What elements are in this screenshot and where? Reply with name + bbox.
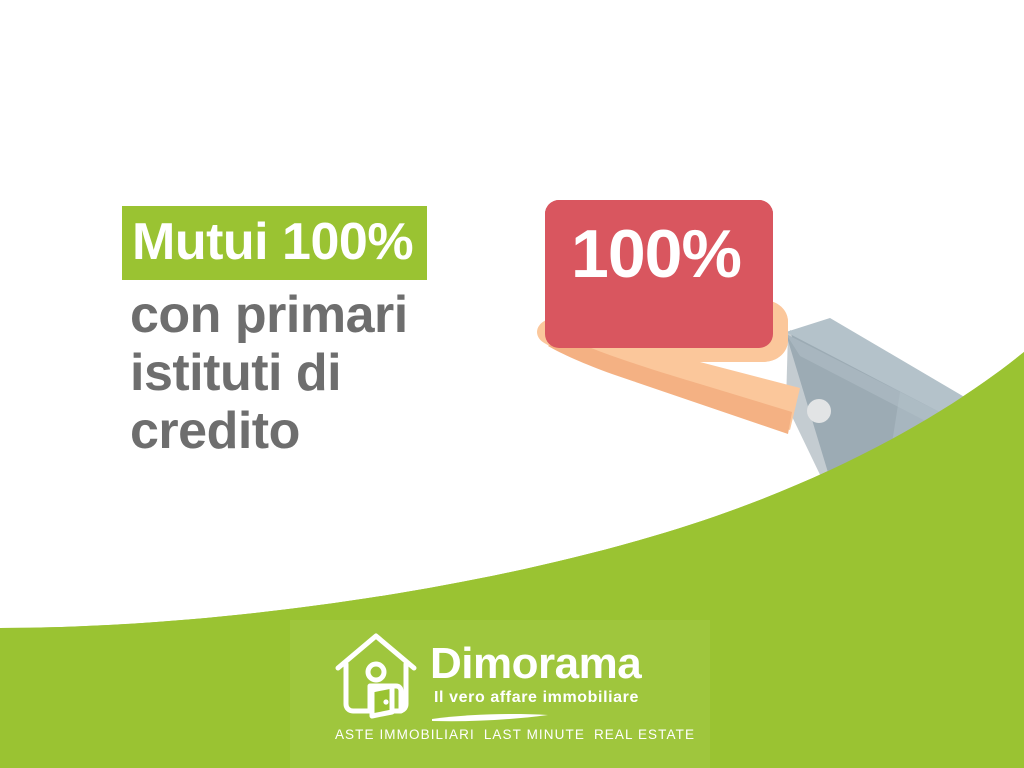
logo-footnote-part-1: ASTE IMMOBILIARI xyxy=(335,727,475,742)
headline-highlight: Mutui 100% xyxy=(122,206,427,280)
headline-line-3: credito xyxy=(122,402,552,460)
headline-block: Mutui 100% con primari istituti di credi… xyxy=(122,206,552,460)
headline-line-2: istituti di xyxy=(122,344,552,402)
logo-wordmark: Dimorama xyxy=(430,642,641,686)
logo-footnote: ASTE IMMOBILIARILAST MINUTEREAL ESTATE xyxy=(330,728,700,742)
percent-card: 100% xyxy=(545,200,773,348)
brand-logo: Dimorama Il vero affare immobiliare ASTE… xyxy=(330,624,700,744)
house-outline-icon xyxy=(330,628,422,720)
headline-line-1: con primari xyxy=(122,286,552,344)
sleeve-button-icon xyxy=(807,399,831,423)
logo-footnote-part-2: LAST MINUTE xyxy=(484,727,585,742)
percent-card-label: 100% xyxy=(571,220,741,288)
logo-footnote-part-3: REAL ESTATE xyxy=(594,727,695,742)
swash-divider-icon xyxy=(430,712,550,724)
logo-tagline: Il vero affare immobiliare xyxy=(434,690,639,706)
promo-banner: Mutui 100% con primari istituti di credi… xyxy=(0,0,1024,768)
headline-body: con primari istituti di credito xyxy=(122,286,552,460)
